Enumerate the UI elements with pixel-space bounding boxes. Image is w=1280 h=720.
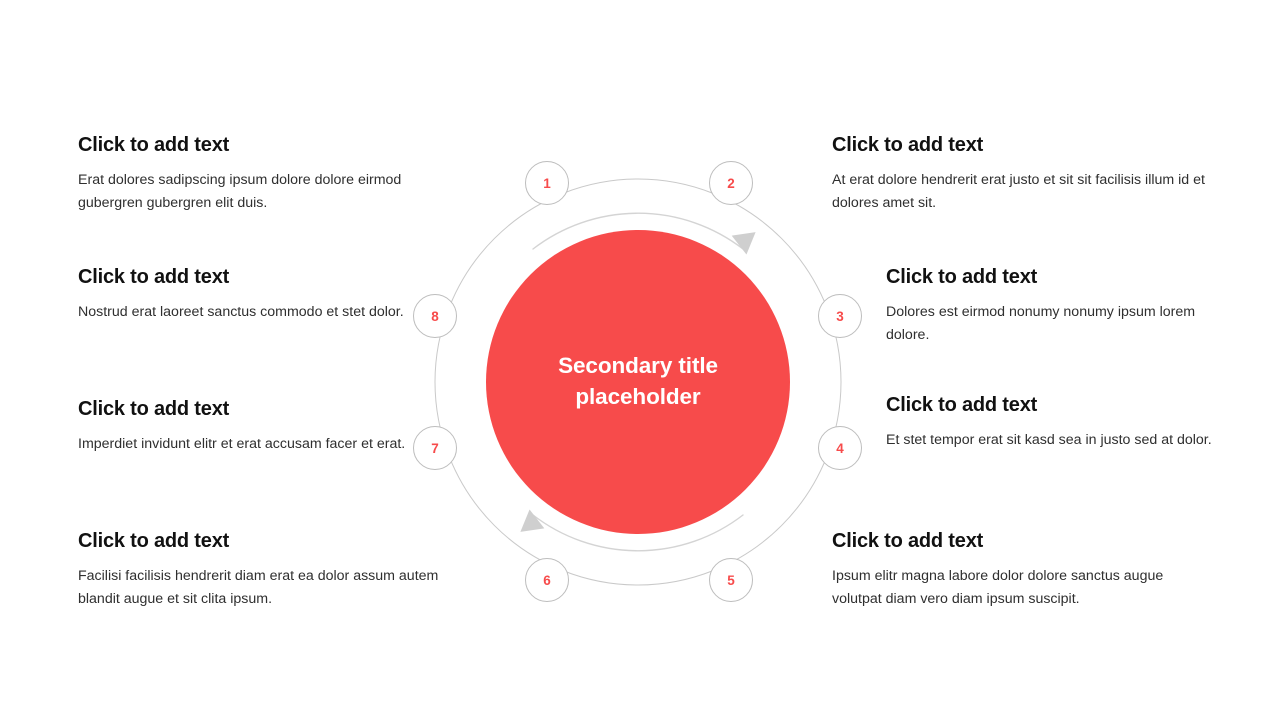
node-3-label: 3 [836, 309, 844, 324]
top-arrow-head-icon [732, 223, 763, 255]
node-7-label: 7 [431, 441, 439, 456]
node-1[interactable]: 1 [525, 161, 569, 205]
text-block-7[interactable]: Click to add text Imperdiet invidunt eli… [78, 398, 408, 456]
block-body-5[interactable]: Ipsum elitr magna labore dolor dolore sa… [832, 565, 1214, 611]
node-4[interactable]: 4 [818, 426, 862, 470]
block-title-3[interactable]: Click to add text [886, 266, 1216, 289]
block-title-2[interactable]: Click to add text [832, 134, 1214, 157]
node-4-label: 4 [836, 441, 844, 456]
text-block-5[interactable]: Click to add text Ipsum elitr magna labo… [832, 530, 1214, 611]
block-body-2[interactable]: At erat dolore hendrerit erat justo et s… [832, 169, 1214, 215]
node-6-label: 6 [543, 573, 551, 588]
block-title-5[interactable]: Click to add text [832, 530, 1214, 553]
text-block-3[interactable]: Click to add text Dolores est eirmod non… [886, 266, 1216, 347]
block-body-4[interactable]: Et stet tempor erat sit kasd sea in just… [886, 429, 1216, 452]
text-block-2[interactable]: Click to add text At erat dolore hendrer… [832, 134, 1214, 215]
bottom-arrow-head-icon [513, 509, 544, 541]
block-body-7[interactable]: Imperdiet invidunt elitr et erat accusam… [78, 433, 408, 456]
text-block-8[interactable]: Click to add text Nostrud erat laoreet s… [78, 266, 408, 324]
hub-title[interactable]: Secondary title placeholder [533, 351, 743, 413]
node-1-label: 1 [543, 176, 551, 191]
text-block-4[interactable]: Click to add text Et stet tempor erat si… [886, 394, 1216, 452]
node-5[interactable]: 5 [709, 558, 753, 602]
node-8[interactable]: 8 [413, 294, 457, 338]
cycle-diagram: Secondary title placeholder 1 2 3 4 5 6 … [398, 142, 878, 622]
block-title-7[interactable]: Click to add text [78, 398, 408, 421]
hub-circle[interactable]: Secondary title placeholder [486, 230, 790, 534]
node-6[interactable]: 6 [525, 558, 569, 602]
node-2-label: 2 [727, 176, 735, 191]
node-7[interactable]: 7 [413, 426, 457, 470]
block-body-8[interactable]: Nostrud erat laoreet sanctus commodo et … [78, 301, 408, 324]
block-body-3[interactable]: Dolores est eirmod nonumy nonumy ipsum l… [886, 301, 1216, 347]
block-title-8[interactable]: Click to add text [78, 266, 408, 289]
node-5-label: 5 [727, 573, 735, 588]
node-2[interactable]: 2 [709, 161, 753, 205]
node-3[interactable]: 3 [818, 294, 862, 338]
block-title-4[interactable]: Click to add text [886, 394, 1216, 417]
slide-canvas: Click to add text Erat dolores sadipscin… [0, 0, 1280, 720]
node-8-label: 8 [431, 309, 439, 324]
